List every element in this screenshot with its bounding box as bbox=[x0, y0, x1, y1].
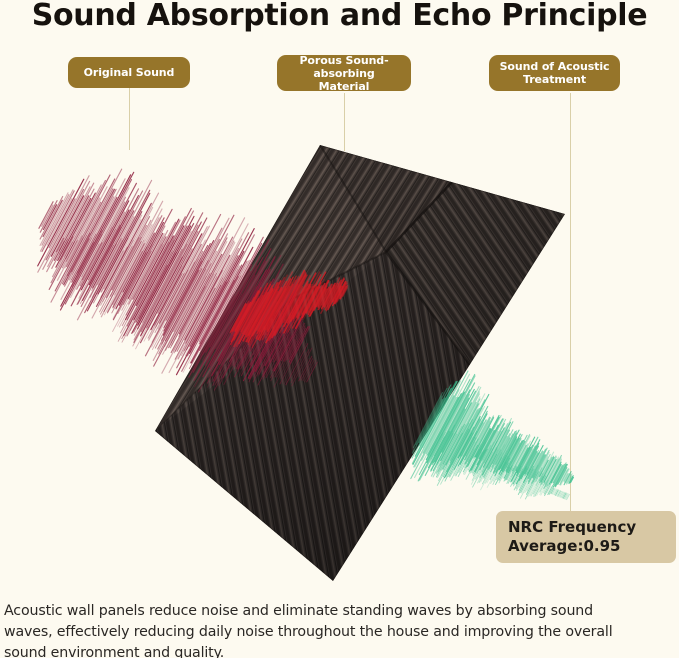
nrc-line-2: Average:0.95 bbox=[508, 537, 620, 556]
callout-badge-porous-material[interactable]: Porous Sound-absorbing Material bbox=[277, 55, 411, 91]
callout-label-original-sound: Original Sound bbox=[84, 66, 175, 79]
callout-badge-acoustic-treatment[interactable]: Sound of AcousticTreatment bbox=[489, 55, 620, 91]
callout-label-acoustic-treatment: Sound of AcousticTreatment bbox=[500, 60, 610, 86]
callout-label-porous-material: Porous Sound-absorbing Material bbox=[287, 54, 401, 93]
nrc-frequency-badge[interactable]: NRC Frequency Average:0.95 bbox=[496, 511, 676, 563]
nrc-line-1: NRC Frequency bbox=[508, 518, 636, 537]
caption-text: Acoustic wall panels reduce noise and el… bbox=[4, 601, 644, 658]
callout-badge-original-sound[interactable]: Original Sound bbox=[68, 57, 190, 88]
infographic-root: Sound Absorption and Echo Principle bbox=[0, 0, 679, 658]
